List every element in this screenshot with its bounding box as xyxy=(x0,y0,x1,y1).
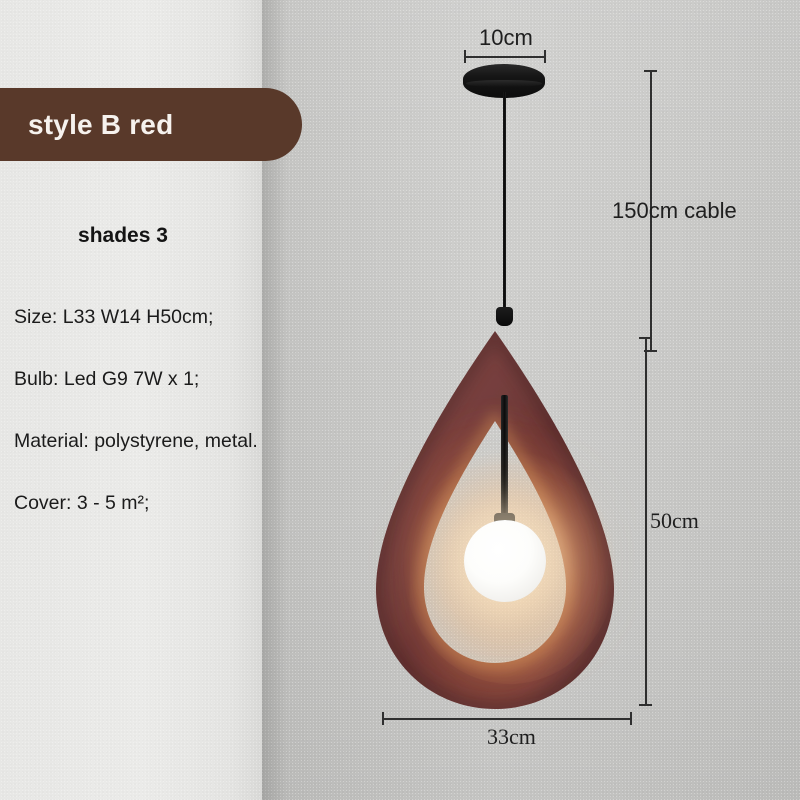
style-badge-label: style B red xyxy=(0,109,173,141)
canopy-seam xyxy=(466,80,542,87)
dimension-label-canopy-width: 10cm xyxy=(479,25,533,51)
dimension-label-cable: 150cm cable xyxy=(612,198,737,224)
dimension-label-shade-height: 50cm xyxy=(650,508,699,534)
product-heading: shades 3 xyxy=(0,224,246,248)
dimension-tick-width-right xyxy=(630,712,632,725)
globe-bulb xyxy=(464,520,546,602)
dimension-line-shade-width xyxy=(382,718,631,720)
spec-line-cover: Cover: 3 - 5 m²; xyxy=(14,492,314,515)
dimension-label-shade-width: 33cm xyxy=(487,724,536,750)
spec-line-material: Material: polystyrene, metal. xyxy=(14,430,314,453)
hanging-cable xyxy=(503,92,506,310)
spec-line-bulb: Bulb: Led G9 7W x 1; xyxy=(14,368,314,391)
product-spec-image: style B red shades 3 Size: L33 W14 H50cm… xyxy=(0,0,800,800)
style-badge: style B red xyxy=(0,88,302,161)
spec-list: Size: L33 W14 H50cm; Bulb: Led G9 7W x 1… xyxy=(14,306,314,554)
dimension-tick-shade-bottom xyxy=(639,704,652,706)
dimension-tick-width-left xyxy=(382,712,384,725)
dimension-tick-canopy-left xyxy=(464,50,466,63)
dimension-line-canopy-width xyxy=(464,56,546,58)
dimension-tick-cable-top xyxy=(644,70,657,72)
dimension-line-shade-height xyxy=(645,337,647,705)
dimension-tick-canopy-right xyxy=(544,50,546,63)
spec-line-size: Size: L33 W14 H50cm; xyxy=(14,306,314,329)
dimension-tick-shade-top xyxy=(639,337,652,339)
bulb-stem-rod xyxy=(501,395,508,525)
cable-shade-connector xyxy=(496,307,513,326)
